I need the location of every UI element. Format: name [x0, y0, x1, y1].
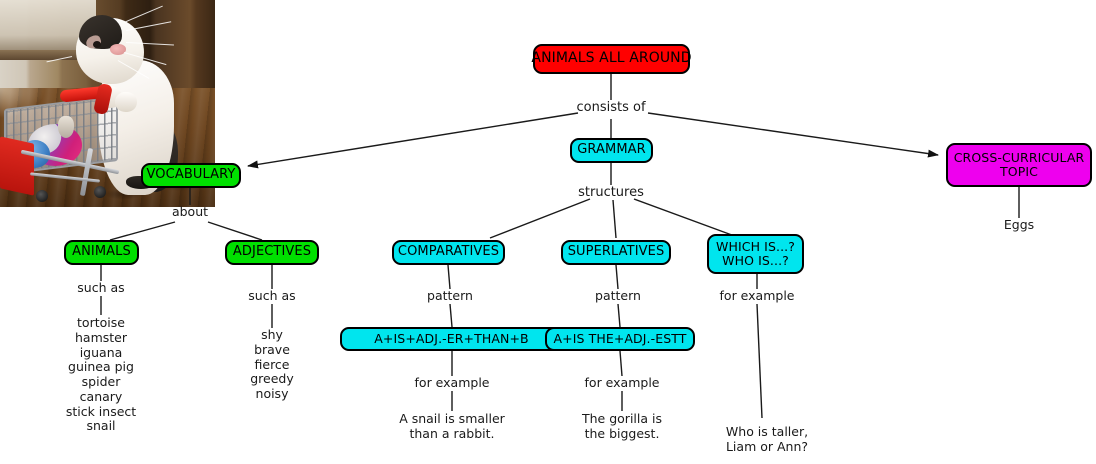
edge-structures-to-questions	[634, 199, 740, 238]
concept-map-canvas: ANIMALS ALL AROUND VOCABULARY GRAMMAR CR…	[0, 0, 1096, 464]
node-vocabulary-label: VOCABULARY	[147, 168, 236, 183]
edge-consists-of-to-cross-curricular	[648, 113, 938, 155]
edge-consists-of-to-vocabulary	[248, 113, 578, 166]
comparative-example-line1: A snail is smaller	[382, 412, 522, 427]
edge-label-pattern-comparatives: pattern	[400, 289, 500, 304]
edge-label-for-example-questions: for example	[702, 289, 812, 304]
node-vocabulary[interactable]: VOCABULARY	[141, 163, 241, 188]
leaf-comparative-example: A snail is smaller than a rabbit.	[382, 412, 522, 442]
node-grammar[interactable]: GRAMMAR	[570, 138, 653, 163]
question-example-line1: Who is taller,	[702, 425, 832, 440]
edge-superlatives-to-pattern	[616, 265, 618, 289]
edge-about-to-animals	[110, 222, 175, 240]
edge-label-for-example-comparatives: for example	[397, 376, 507, 391]
leaf-question-example: Who is taller, Liam or Ann?	[702, 425, 832, 455]
superlative-example-line2: the biggest.	[562, 427, 682, 442]
shopping-cart-wheel	[36, 190, 48, 202]
edge-for-example-to-question-sentence	[757, 304, 762, 418]
leaf-superlative-example: The gorilla is the biggest.	[562, 412, 682, 442]
node-adjectives-label: ADJECTIVES	[233, 245, 311, 260]
node-adjectives[interactable]: ADJECTIVES	[225, 240, 319, 265]
leaf-animals-list: tortoise hamster iguana guinea pig spide…	[31, 316, 171, 434]
node-animals[interactable]: ANIMALS	[64, 240, 139, 265]
guinea-pig-nose	[110, 44, 126, 55]
node-superlative-pattern-label: A+IS THE+ADJ.-ESTT	[553, 332, 686, 346]
edge-superlative-pattern-to-for-example	[620, 351, 622, 376]
node-superlatives[interactable]: SUPERLATIVES	[561, 240, 671, 265]
node-which-who-questions[interactable]: WHICH IS...? WHO IS...?	[707, 234, 804, 274]
edge-pattern-to-superlative-pattern	[618, 304, 620, 327]
edge-label-pattern-superlatives: pattern	[568, 289, 668, 304]
edge-comparatives-to-pattern	[448, 265, 450, 289]
comparative-example-line2: than a rabbit.	[382, 427, 522, 442]
edge-label-for-example-superlatives: for example	[567, 376, 677, 391]
node-superlative-pattern[interactable]: A+IS THE+ADJ.-ESTT	[545, 327, 695, 351]
edge-label-structures: structures	[561, 185, 661, 200]
node-which-is-label: WHICH IS...?	[716, 240, 795, 254]
edge-label-consists-of: consists of	[561, 100, 661, 115]
node-cross-curricular-line1: CROSS-CURRICULAR	[954, 151, 1085, 165]
node-comparative-pattern[interactable]: A+IS+ADJ.-ER+THAN+B	[340, 327, 563, 351]
edge-label-such-as-adjectives: such as	[222, 289, 322, 304]
leaf-adjectives-list: shy brave fierce greedy noisy	[222, 328, 322, 402]
edge-label-such-as-animals: such as	[51, 281, 151, 296]
edge-pattern-to-comparative-pattern	[450, 304, 452, 327]
node-root-label: ANIMALS ALL AROUND	[531, 51, 691, 67]
node-root[interactable]: ANIMALS ALL AROUND	[533, 44, 690, 74]
guinea-pig-paw	[115, 92, 137, 112]
node-cross-curricular-topic[interactable]: CROSS-CURRICULAR TOPIC	[946, 143, 1092, 187]
node-comparatives-label: COMPARATIVES	[398, 245, 499, 260]
superlative-example-line1: The gorilla is	[562, 412, 682, 427]
node-animals-label: ANIMALS	[72, 245, 131, 260]
node-comparatives[interactable]: COMPARATIVES	[392, 240, 505, 265]
edge-label-about: about	[150, 205, 230, 220]
node-superlatives-label: SUPERLATIVES	[568, 245, 665, 260]
node-grammar-label: GRAMMAR	[577, 143, 646, 158]
node-comparative-pattern-label: A+IS+ADJ.-ER+THAN+B	[374, 332, 528, 346]
edge-structures-to-comparatives	[490, 199, 590, 238]
edge-structures-to-superlatives	[613, 200, 616, 238]
cart-toy-item	[58, 116, 74, 138]
leaf-eggs: Eggs	[969, 218, 1069, 233]
node-cross-curricular-line2: TOPIC	[1000, 165, 1038, 179]
node-who-is-label: WHO IS...?	[722, 254, 789, 268]
shopping-cart-front-panel	[0, 136, 34, 195]
shopping-cart-wheel	[94, 186, 106, 198]
question-example-line2: Liam or Ann?	[702, 440, 832, 455]
edge-about-to-adjectives	[208, 222, 262, 240]
guinea-pig-eye	[93, 41, 101, 48]
